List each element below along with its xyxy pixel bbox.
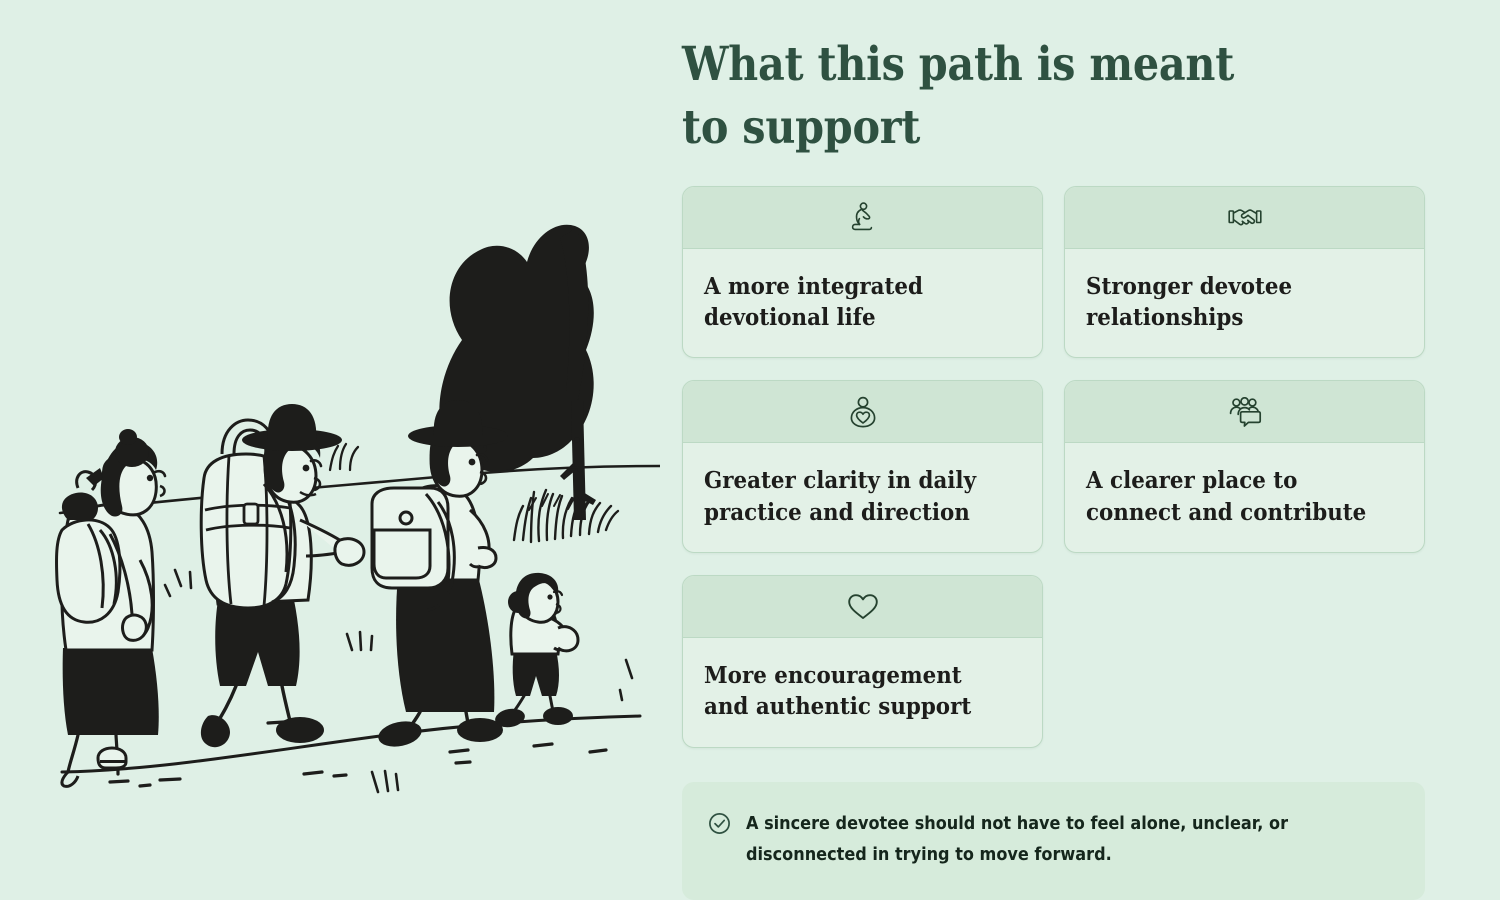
handshake-icon xyxy=(1228,204,1262,230)
benefits-card-grid: A more integrated devotional life xyxy=(682,186,1425,748)
card-label: A clearer place to connect and contribut… xyxy=(1086,465,1381,528)
card-header xyxy=(683,187,1042,249)
card-label: A more integrated devotional life xyxy=(704,271,999,334)
card-label: Greater clarity in daily practice and di… xyxy=(704,465,999,528)
card-header xyxy=(683,576,1042,638)
card-body: Stronger devotee relationships xyxy=(1065,249,1424,358)
pilgrims-walking-line-art xyxy=(0,0,660,892)
content-pane: What this path is meant to support xyxy=(660,0,1500,892)
card-body: More encouragement and authentic support xyxy=(683,638,1042,747)
callout-text: A sincere devotee should not have to fee… xyxy=(746,809,1347,871)
people-chat-icon xyxy=(1228,397,1262,427)
check-circle-icon xyxy=(708,812,731,840)
card-header xyxy=(1065,187,1424,249)
card-body: A clearer place to connect and contribut… xyxy=(1065,443,1424,552)
slide-root: What this path is meant to support xyxy=(0,0,1500,892)
person-heart-icon xyxy=(849,396,877,428)
benefit-card-stronger-devotee-relationships[interactable]: Stronger devotee relationships xyxy=(1064,186,1425,359)
callout-banner: A sincere devotee should not have to fee… xyxy=(682,782,1425,900)
benefit-card-greater-clarity[interactable]: Greater clarity in daily practice and di… xyxy=(682,380,1043,553)
illustration-pane xyxy=(0,0,660,892)
card-header xyxy=(683,381,1042,443)
card-header xyxy=(1065,381,1424,443)
card-label: Stronger devotee relationships xyxy=(1086,271,1381,334)
card-body: Greater clarity in daily practice and di… xyxy=(683,443,1042,552)
page-title: What this path is meant to support xyxy=(682,34,1263,160)
benefit-card-integrated-devotional-life[interactable]: A more integrated devotional life xyxy=(682,186,1043,359)
benefit-card-more-encouragement[interactable]: More encouragement and authentic support xyxy=(682,575,1043,748)
heart-icon xyxy=(846,592,880,622)
praying-person-icon xyxy=(849,202,877,232)
benefit-card-clearer-place-to-connect[interactable]: A clearer place to connect and contribut… xyxy=(1064,380,1425,553)
card-body: A more integrated devotional life xyxy=(683,249,1042,358)
card-label: More encouragement and authentic support xyxy=(704,660,999,723)
